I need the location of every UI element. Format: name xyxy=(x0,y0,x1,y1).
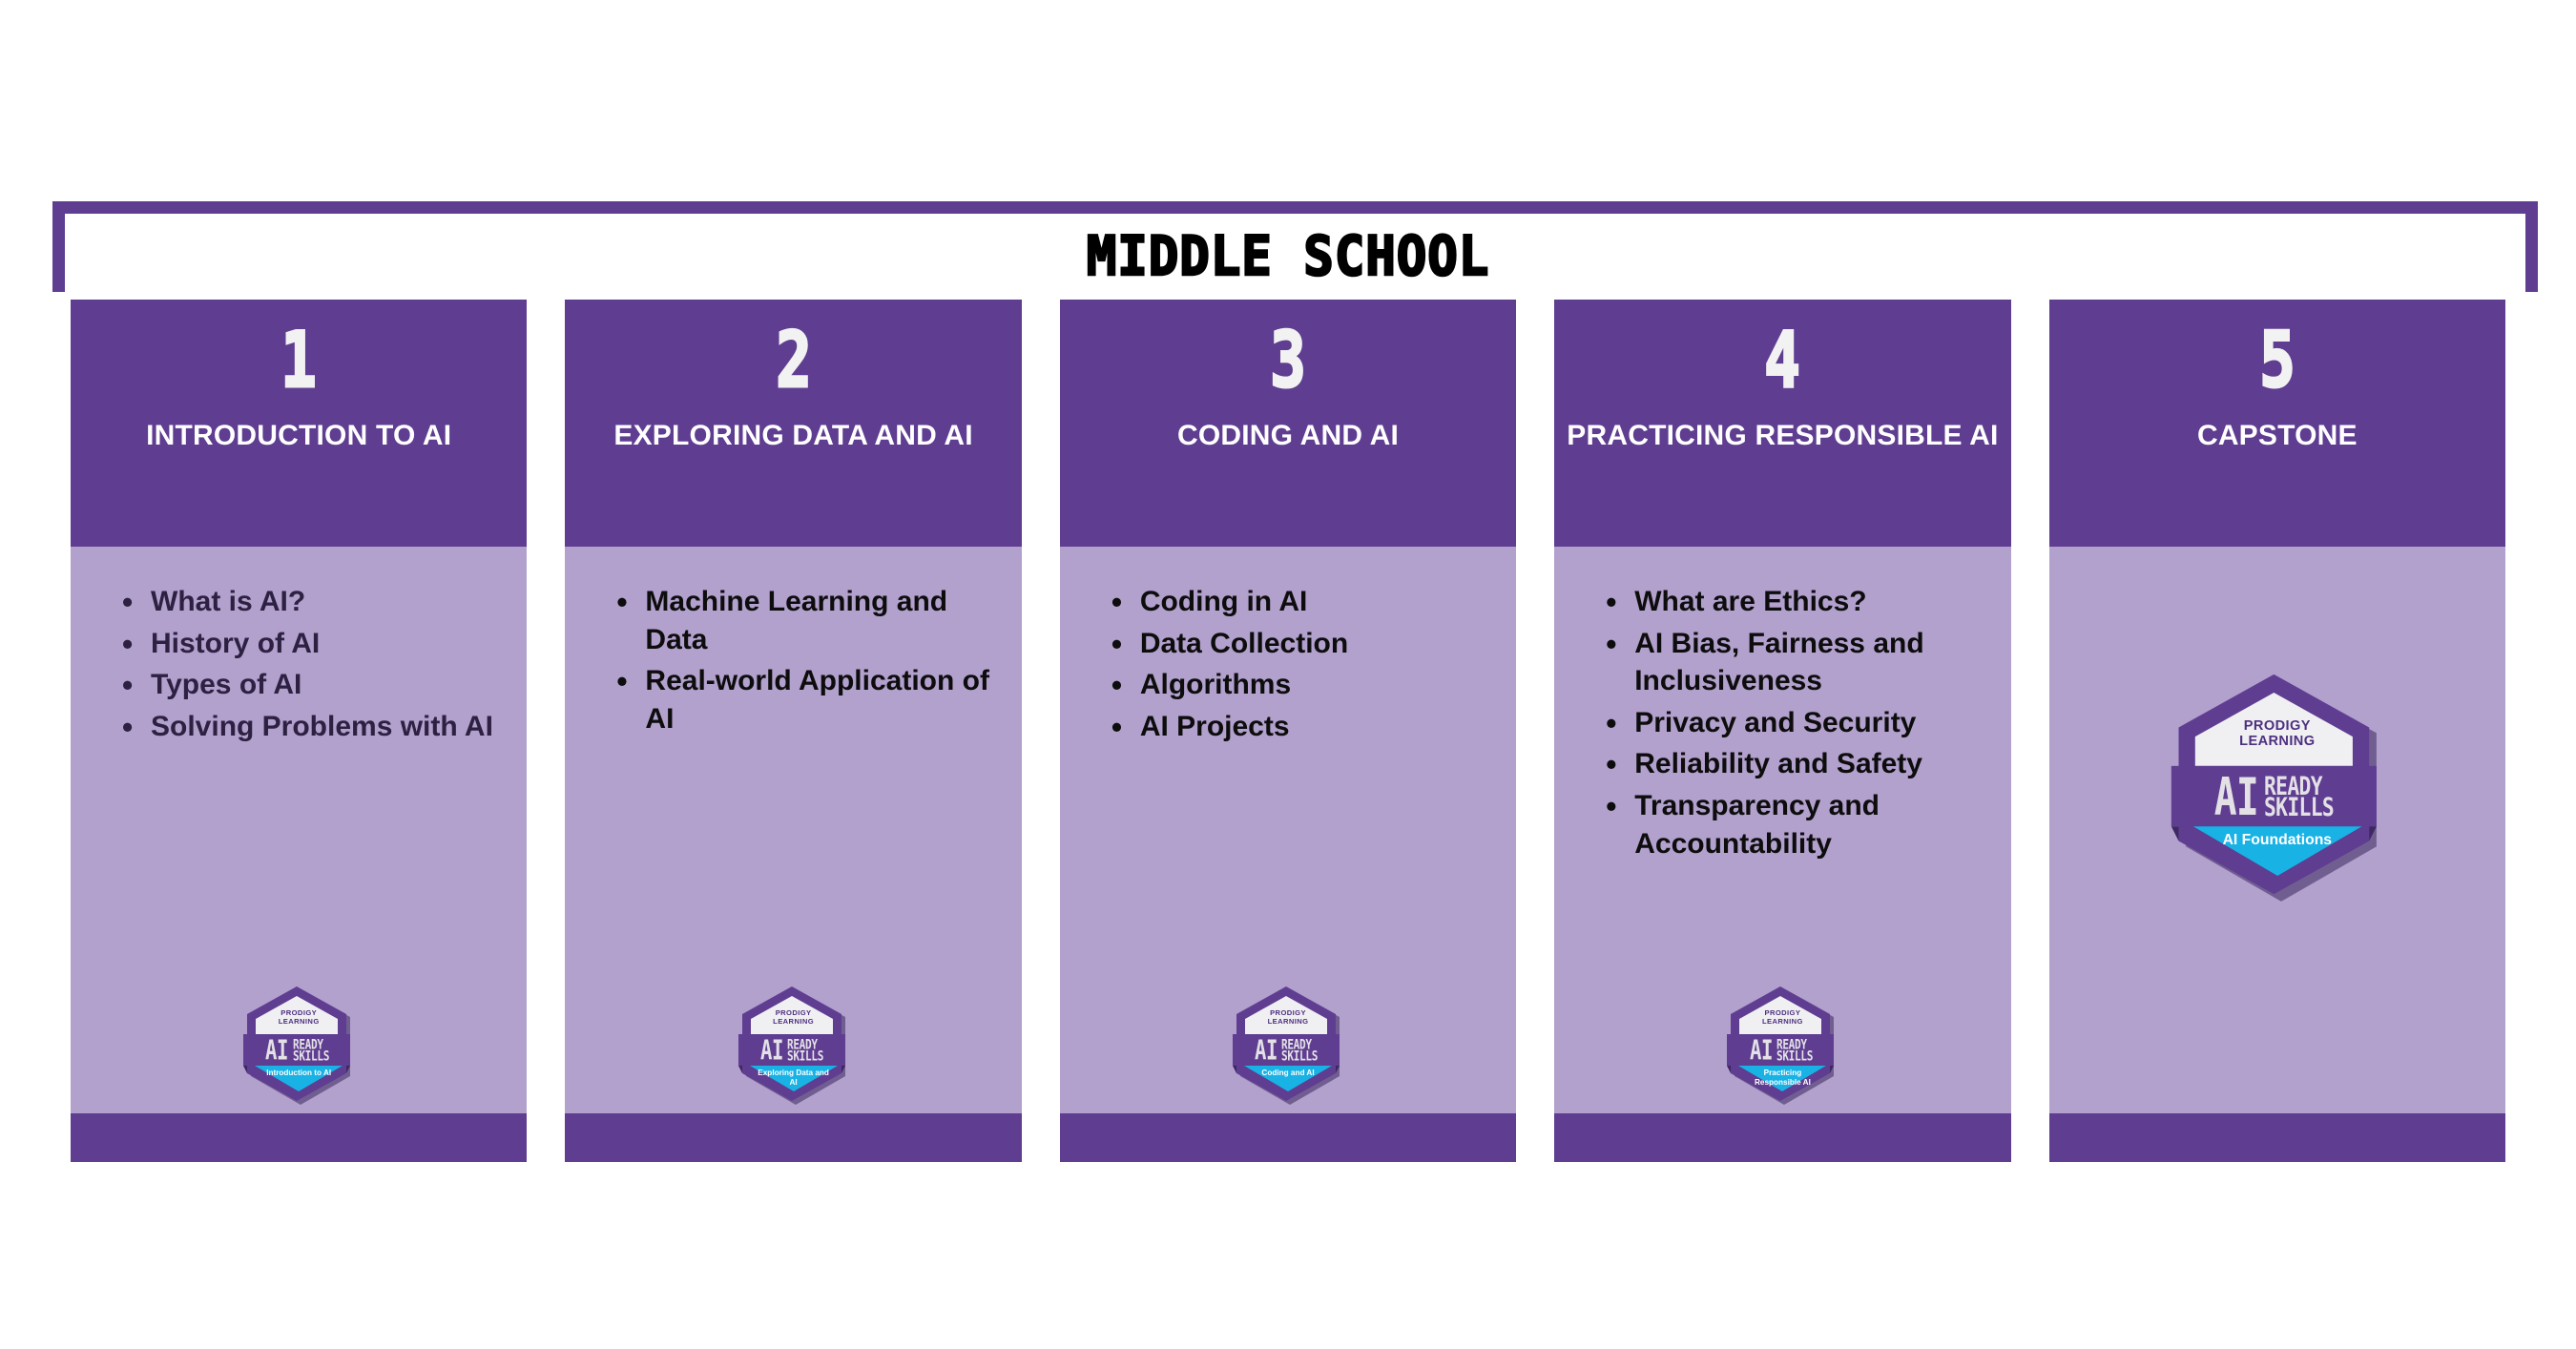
list-item: Privacy and Security xyxy=(1606,704,1987,742)
pathway-column-5[interactable]: 5CAPSTONEPRODIGYLEARNINGAIREADYSKILLSAI … xyxy=(2049,300,2505,1162)
pathway-column-3[interactable]: 3CODING AND AICoding in AIData Collectio… xyxy=(1060,300,1516,1162)
logo-ai-text: AI xyxy=(265,1034,288,1066)
badge-container: PRODIGYLEARNINGAIREADYSKILLSIntroduction… xyxy=(71,985,527,1107)
column-number: 3 xyxy=(1270,321,1306,401)
logo-ready-skills-stack: READYSKILLS xyxy=(1281,1039,1322,1061)
badge-container: PRODIGYLEARNINGAIREADYSKILLSPracticing R… xyxy=(1554,985,2010,1107)
column-number: 4 xyxy=(1765,321,1801,401)
column-title: CAPSTONE xyxy=(2188,418,2367,454)
logo-ready-skills-stack: READYSKILLS xyxy=(1776,1039,1818,1061)
list-item: AI Bias, Fairness and Inclusiveness xyxy=(1606,625,1987,700)
logo-ai-text: AI xyxy=(1255,1034,1278,1066)
logo-ai-text: AI xyxy=(2214,767,2258,828)
column-footer-bar xyxy=(2049,1113,2505,1162)
ai-ready-skills-logo: AIREADYSKILLS xyxy=(1231,1036,1345,1065)
ai-ready-skills-badge: PRODIGYLEARNINGAIREADYSKILLSPracticing R… xyxy=(1725,985,1839,1107)
ai-ready-skills-badge: PRODIGYLEARNINGAIREADYSKILLSCoding and A… xyxy=(1231,985,1345,1107)
badge-container: PRODIGYLEARNINGAIREADYSKILLSAI Foundatio… xyxy=(2049,671,2505,905)
column-title: EXPLORING DATA AND AI xyxy=(604,418,982,454)
topic-list: Coding in AIData CollectionAlgorithmsAI … xyxy=(1060,547,1516,745)
list-item: Coding in AI xyxy=(1111,583,1493,621)
pathway-column-4[interactable]: 4PRACTICING RESPONSIBLE AIWhat are Ethic… xyxy=(1554,300,2010,1162)
column-header: 1INTRODUCTION TO AI xyxy=(71,300,527,547)
ai-ready-skills-badge: PRODIGYLEARNINGAIREADYSKILLSExploring Da… xyxy=(737,985,851,1107)
column-footer-bar xyxy=(565,1113,1021,1162)
list-item: Data Collection xyxy=(1111,625,1493,663)
column-header: 3CODING AND AI xyxy=(1060,300,1516,547)
logo-skills-text: SKILLS xyxy=(293,1049,329,1062)
topic-list: Machine Learning and DataReal-world Appl… xyxy=(565,547,1021,737)
pathway-columns: 1INTRODUCTION TO AIWhat is AI?History of… xyxy=(71,300,2505,1162)
column-title: INTRODUCTION TO AI xyxy=(136,418,461,454)
column-title: PRACTICING RESPONSIBLE AI xyxy=(1557,418,2007,454)
list-item: What is AI? xyxy=(122,583,504,621)
list-item: Solving Problems with AI xyxy=(122,708,504,746)
column-number: 1 xyxy=(280,321,317,401)
column-header: 4PRACTICING RESPONSIBLE AI xyxy=(1554,300,2010,547)
column-body: What is AI?History of AITypes of AISolvi… xyxy=(71,547,527,1162)
ai-ready-skills-badge: PRODIGYLEARNINGAIREADYSKILLSAI Foundatio… xyxy=(2168,671,2387,905)
column-footer-bar xyxy=(1554,1113,2010,1162)
topic-list: What are Ethics?AI Bias, Fairness and In… xyxy=(1554,547,2010,862)
logo-skills-text: SKILLS xyxy=(787,1049,823,1062)
list-item: Algorithms xyxy=(1111,666,1493,704)
list-item: Machine Learning and Data xyxy=(616,583,998,658)
badge-container: PRODIGYLEARNINGAIREADYSKILLSCoding and A… xyxy=(1060,985,1516,1107)
ai-ready-skills-logo: AIREADYSKILLS xyxy=(2168,770,2387,825)
ai-ready-skills-badge: PRODIGYLEARNINGAIREADYSKILLSIntroduction… xyxy=(241,985,356,1107)
logo-skills-text: SKILLS xyxy=(2264,796,2334,820)
topic-list: What is AI?History of AITypes of AISolvi… xyxy=(71,547,527,745)
logo-ai-text: AI xyxy=(760,1034,783,1066)
column-number: 5 xyxy=(2259,321,2296,401)
list-item: Reliability and Safety xyxy=(1606,745,1987,783)
column-footer-bar xyxy=(1060,1113,1516,1162)
ai-ready-skills-logo: AIREADYSKILLS xyxy=(241,1036,356,1065)
badge-container: PRODIGYLEARNINGAIREADYSKILLSExploring Da… xyxy=(565,985,1021,1107)
column-body: Coding in AIData CollectionAlgorithmsAI … xyxy=(1060,547,1516,1162)
logo-ready-skills-stack: READYSKILLS xyxy=(293,1039,334,1061)
logo-ready-skills-stack: READYSKILLS xyxy=(2264,776,2343,819)
list-item: What are Ethics? xyxy=(1606,583,1987,621)
pathway-column-2[interactable]: 2EXPLORING DATA AND AIMachine Learning a… xyxy=(565,300,1021,1162)
logo-ai-text: AI xyxy=(1750,1034,1773,1066)
ai-ready-skills-logo: AIREADYSKILLS xyxy=(737,1036,851,1065)
column-number: 2 xyxy=(776,321,812,401)
column-header: 5CAPSTONE xyxy=(2049,300,2505,547)
logo-ready-skills-stack: READYSKILLS xyxy=(787,1039,828,1061)
list-item: Transparency and Accountability xyxy=(1606,787,1987,862)
column-title: CODING AND AI xyxy=(1168,418,1408,454)
logo-skills-text: SKILLS xyxy=(1281,1049,1318,1062)
column-header: 2EXPLORING DATA AND AI xyxy=(565,300,1021,547)
list-item: Real-world Application of AI xyxy=(616,662,998,737)
list-item: History of AI xyxy=(122,625,504,663)
ai-ready-skills-logo: AIREADYSKILLS xyxy=(1725,1036,1839,1065)
list-item: Types of AI xyxy=(122,666,504,704)
column-body: What are Ethics?AI Bias, Fairness and In… xyxy=(1554,547,2010,1162)
list-item: AI Projects xyxy=(1111,708,1493,746)
page-title: MIDDLE SCHOOL xyxy=(103,225,2473,288)
column-body: PRODIGYLEARNINGAIREADYSKILLSAI Foundatio… xyxy=(2049,547,2505,1162)
pathway-column-1[interactable]: 1INTRODUCTION TO AIWhat is AI?History of… xyxy=(71,300,527,1162)
column-body: Machine Learning and DataReal-world Appl… xyxy=(565,547,1021,1162)
logo-skills-text: SKILLS xyxy=(1776,1049,1813,1062)
column-footer-bar xyxy=(71,1113,527,1162)
